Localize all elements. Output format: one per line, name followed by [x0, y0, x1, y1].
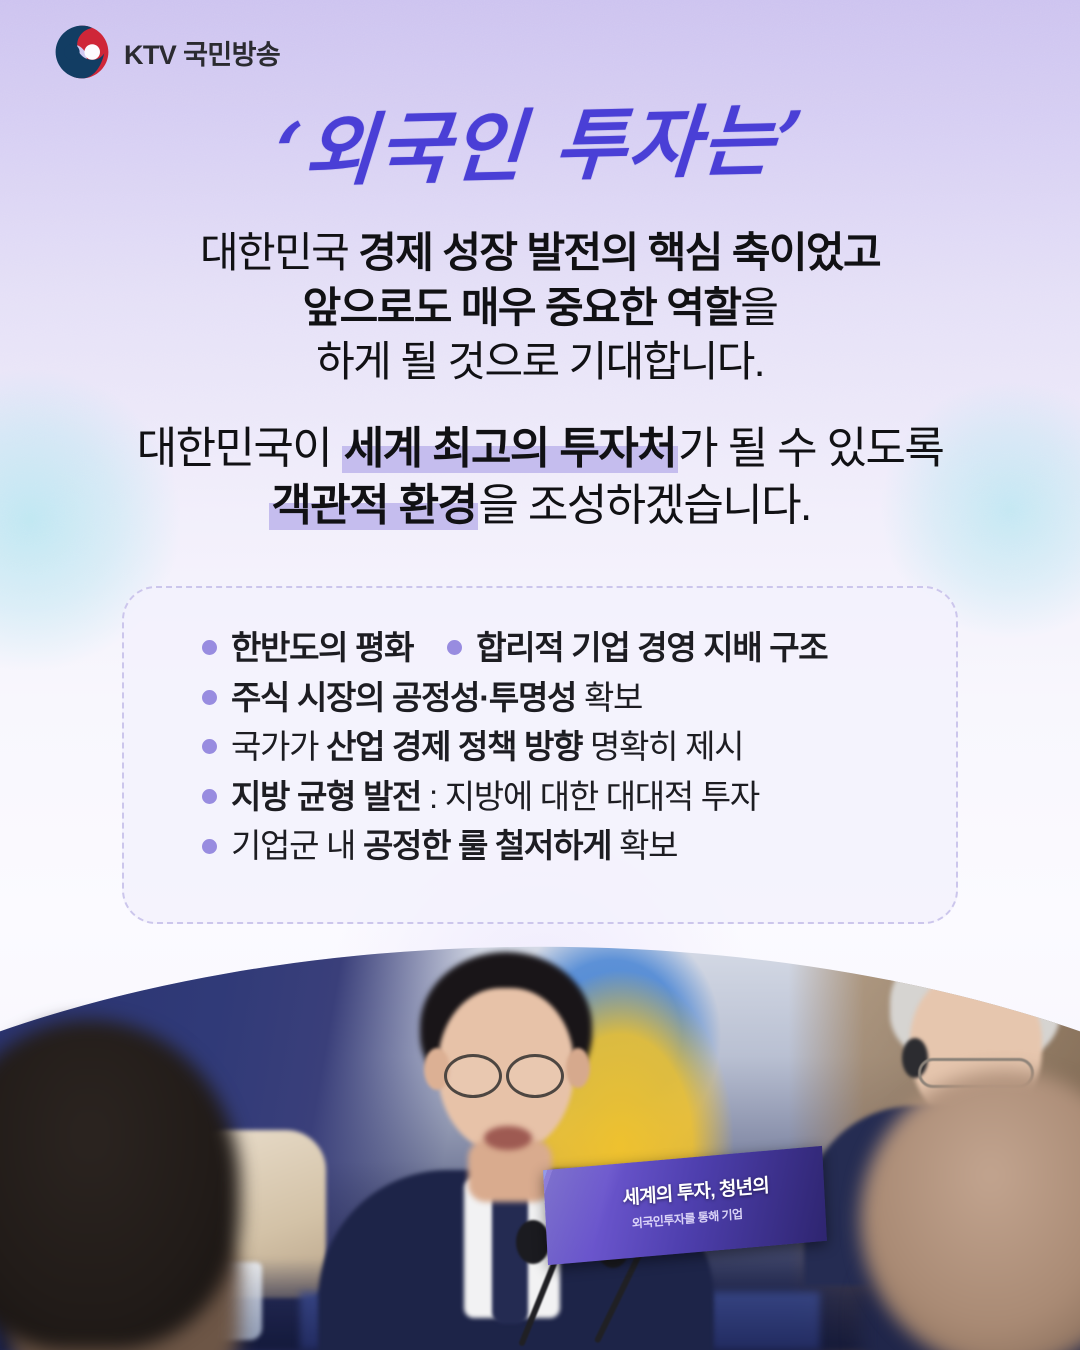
text-run: 한반도의 평화: [231, 629, 413, 666]
bullet-dot-icon: [447, 640, 462, 655]
card-news-poster: KTV 국민방송 ‘외국인 투자는’ 대한민국 경제 성장 발전의 핵심 축이었…: [0, 0, 1080, 1350]
text-run: 을: [740, 284, 777, 331]
paragraph-primary: 대한민국 경제 성장 발전의 핵심 축이었고 앞으로도 매우 중요한 역할을 하…: [0, 226, 1080, 390]
highlighted-text-run: 세계 최고의 투자처: [342, 424, 678, 473]
paragraph-line: 앞으로도 매우 중요한 역할을: [0, 281, 1080, 336]
text-run: 명확히 제시: [582, 728, 743, 765]
korea-government-taeguk-icon: [52, 22, 112, 82]
list-row: 지방 균형 발전 : 지방에 대한 대대적 투자: [202, 777, 928, 817]
eyeglasses-icon: [506, 1054, 564, 1098]
list-row: 주식 시장의 공정성·투명성 확보: [202, 678, 928, 718]
text-run: 공정한 룰 철저하게: [363, 827, 611, 864]
nameplate-graphic: [543, 1146, 827, 1265]
paragraph-line: 객관적 환경을 조성하겠습니다.: [0, 477, 1080, 534]
key-points-list: 한반도의 평화 합리적 기업 경영 지배 구조 주식 시장의 공정성·투명성 확…: [202, 628, 928, 866]
bullet-dot-icon: [202, 739, 217, 754]
text-run: 기업군 내: [231, 827, 363, 864]
bullet-dot-icon: [202, 789, 217, 804]
paragraph-secondary: 대한민국이 세계 최고의 투자처가 될 수 있도록 객관적 환경을 조성하겠습니…: [0, 420, 1080, 534]
microphone-head: [516, 1220, 550, 1264]
text-run: 지방 균형 발전: [231, 778, 421, 815]
text-run: 공정성·투명성: [392, 679, 576, 716]
text-run: 확보: [611, 827, 677, 864]
bullet-dot-icon: [202, 690, 217, 705]
list-item: 기업군 내 공정한 룰 철저하게 확보: [202, 826, 677, 866]
text-run: 합리적 기업 경영 지배 구조: [476, 629, 827, 666]
text-run: 대한민국: [200, 229, 358, 276]
text-run: 하게 될 것으로 기대합니다.: [316, 338, 764, 385]
text-run: 확보: [576, 679, 642, 716]
brand-logo-row: KTV 국민방송: [52, 22, 280, 82]
list-item: 국가가 산업 경제 정책 방향 명확히 제시: [202, 727, 743, 767]
text-run: 산업 경제 정책 방향: [326, 728, 582, 765]
list-row: 한반도의 평화 합리적 기업 경영 지배 구조: [202, 628, 928, 668]
list-item: 한반도의 평화: [202, 628, 413, 668]
text-run: 경제 성장 발전의 핵심 축이었고: [358, 229, 880, 276]
bullet-dot-icon: [202, 839, 217, 854]
speaker-ear-right: [566, 1048, 590, 1088]
text-run: 대한민국이: [137, 424, 342, 473]
list-row: 기업군 내 공정한 룰 철저하게 확보: [202, 826, 928, 866]
text-run: 가 될 수 있도록: [678, 424, 943, 473]
list-item: 지방 균형 발전 : 지방에 대한 대대적 투자: [202, 777, 759, 817]
key-points-card: 한반도의 평화 합리적 기업 경영 지배 구조 주식 시장의 공정성·투명성 확…: [122, 586, 958, 924]
eyeglasses-bridge: [0, 930, 12, 933]
paragraph-line: 대한민국이 세계 최고의 투자처가 될 수 있도록: [0, 420, 1080, 477]
list-item: 합리적 기업 경영 지배 구조: [447, 628, 827, 668]
paragraph-line: 대한민국 경제 성장 발전의 핵심 축이었고: [0, 226, 1080, 281]
page-title-brush: ‘외국인 투자는’: [0, 96, 1080, 199]
list-row: 국가가 산업 경제 정책 방향 명확히 제시: [202, 727, 928, 767]
speaker-mouth: [484, 1126, 532, 1150]
eyeglasses-icon: [444, 1054, 502, 1098]
text-run: 을 조성하겠습니다.: [478, 481, 810, 530]
bullet-dot-icon: [202, 640, 217, 655]
list-item: 주식 시장의 공정성·투명성 확보: [202, 678, 642, 718]
text-run: 국가가: [231, 728, 326, 765]
brand-name-label: KTV 국민방송: [124, 33, 280, 72]
text-run: 주식 시장의: [231, 679, 392, 716]
text-run: 앞으로도 매우 중요한 역할: [303, 284, 741, 331]
podium-nameplate: 세계의 투자, 청년의 외국인투자를 통해 기업: [543, 1146, 827, 1265]
paragraph-line: 하게 될 것으로 기대합니다.: [0, 335, 1080, 390]
text-run: : 지방에 대한 대대적 투자: [421, 778, 759, 815]
highlighted-text-run: 객관적 환경: [269, 481, 478, 530]
press-photo: 세계의 투자, 청년의 외국인투자를 통해 기업: [0, 930, 1080, 1350]
